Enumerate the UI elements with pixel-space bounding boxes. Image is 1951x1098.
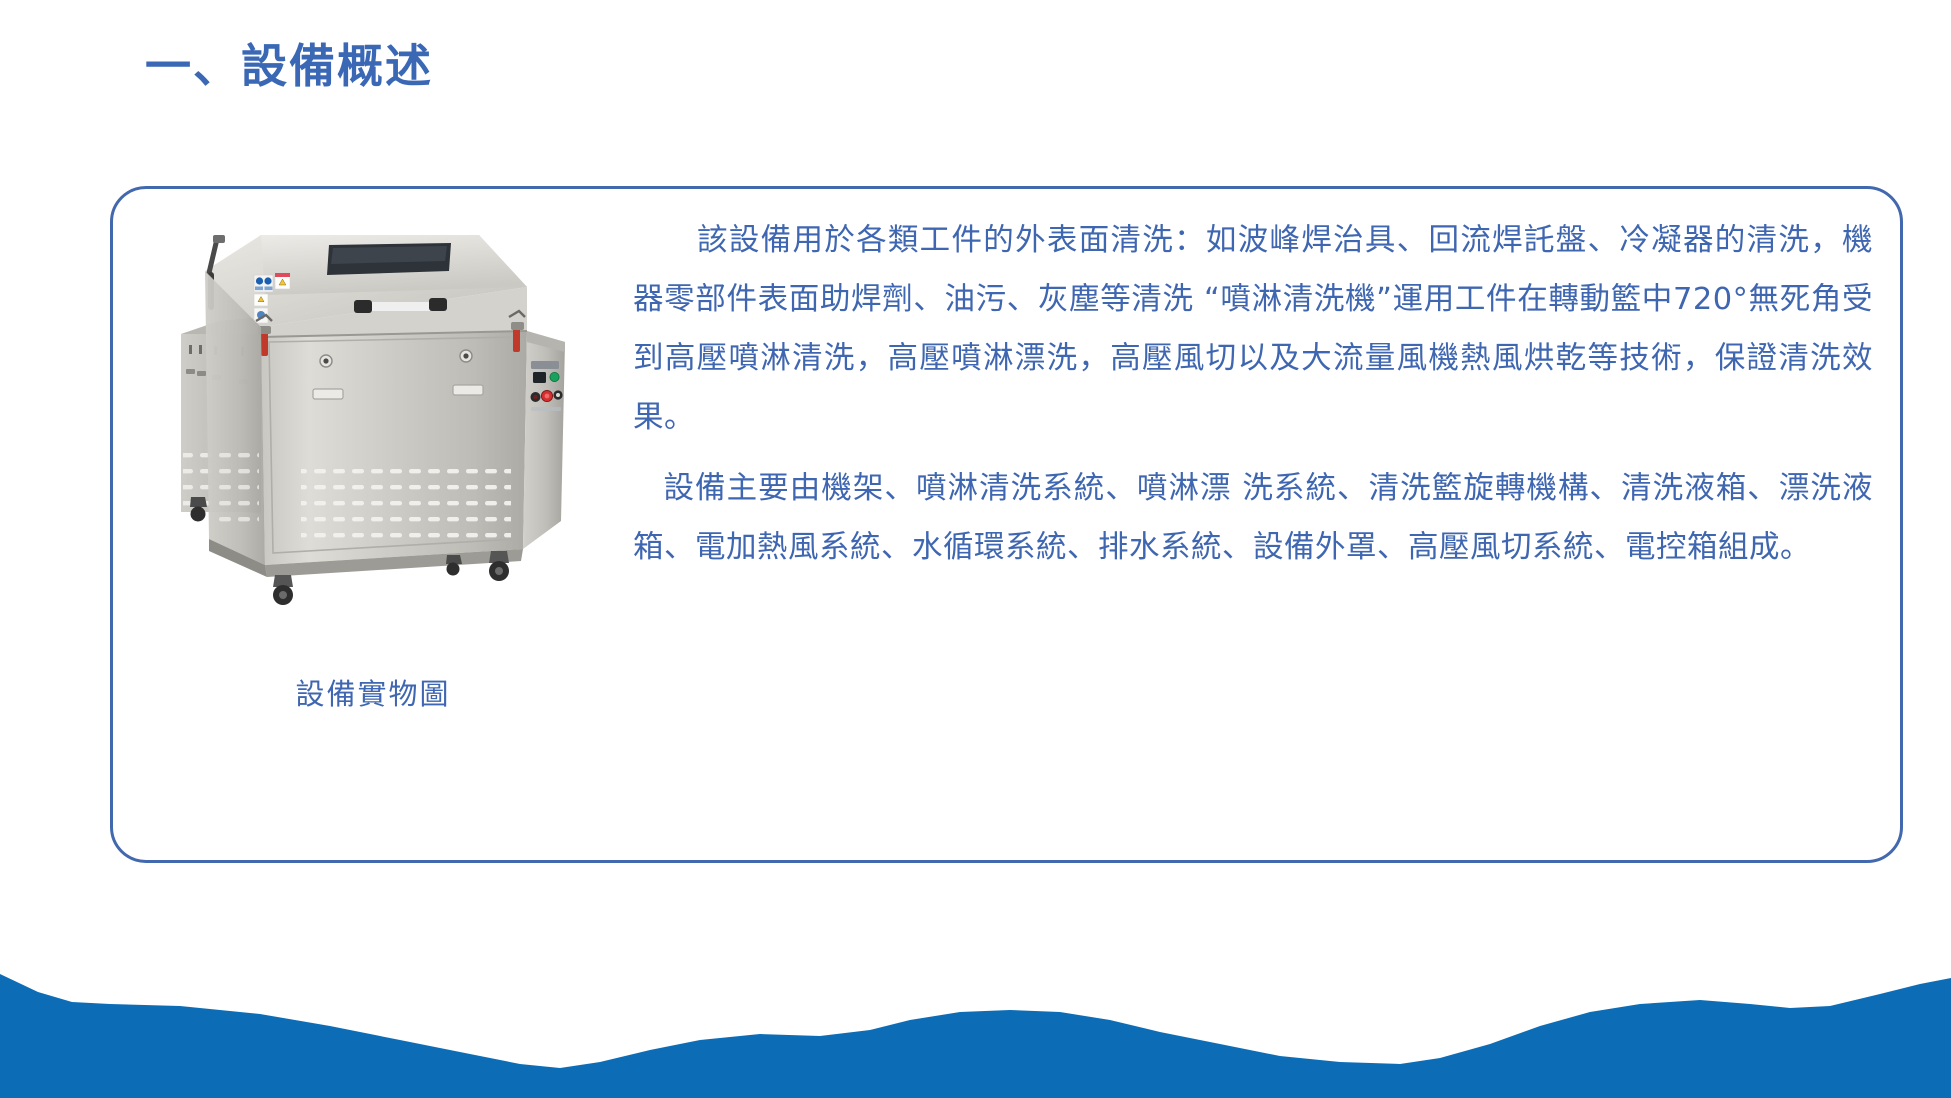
photo-caption: 設備實物圖: [113, 671, 633, 713]
description-paragraph-2: 設備主要由機架、噴淋清洗系統、噴淋漂 洗系統、清洗籃旋轉機構、清洗液箱、漂洗液箱…: [633, 459, 1873, 577]
bottom-wave-decoration: [0, 938, 1951, 1098]
equipment-photo-image: [161, 209, 581, 629]
slide-canvas: 一、設備概述: [0, 0, 1951, 1098]
description-text-column: 該設備用於各類工件的外表面清洗：如波峰焊治具、回流焊託盤、冷凝器的清洗，機器零部…: [633, 211, 1883, 589]
content-card: 設備實物圖 該設備用於各類工件的外表面清洗：如波峰焊治具、回流焊託盤、冷凝器的清…: [110, 186, 1903, 863]
description-paragraph-1: 該設備用於各類工件的外表面清洗：如波峰焊治具、回流焊託盤、冷凝器的清洗，機器零部…: [633, 211, 1873, 447]
photo-column: 設備實物圖: [113, 189, 633, 860]
page-title: 一、設備概述: [145, 38, 433, 96]
front-vent-louvers: [301, 467, 511, 545]
